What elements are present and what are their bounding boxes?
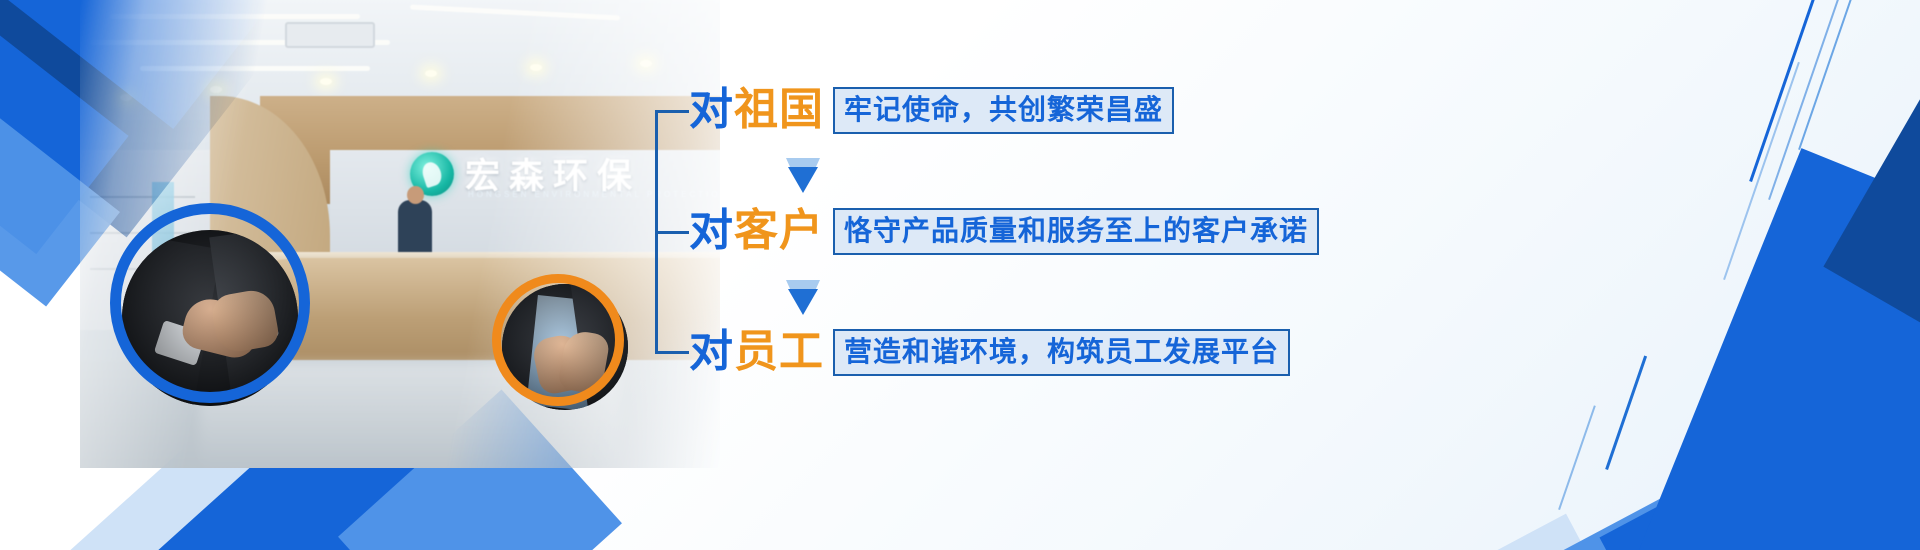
value-row-3-target: 员工 bbox=[734, 326, 824, 377]
decor-diagonal-line-5 bbox=[1605, 356, 1647, 470]
arrow-2-cap bbox=[786, 280, 820, 289]
arrow-2-tip bbox=[788, 289, 818, 315]
value-row-3-statement: 营造和谐环境，构筑员工发展平台 bbox=[833, 329, 1290, 376]
value-row-2-label: 对客户 bbox=[689, 205, 824, 257]
value-row-customer: 对客户 恪守产品质量和服务至上的客户承诺 bbox=[689, 205, 1319, 257]
value-row-3-label: 对员工 bbox=[689, 326, 824, 378]
values-list: 对祖国 牢记使命，共创繁荣昌盛 对客户 恪守产品质量和服务至上的客户承诺 对员工… bbox=[655, 84, 1355, 372]
bracket-stub-3 bbox=[655, 351, 689, 354]
decor-diagonal-line-6 bbox=[1558, 405, 1596, 510]
value-row-2-prefix: 对 bbox=[689, 205, 734, 256]
value-row-2-target: 客户 bbox=[734, 205, 824, 256]
value-row-1-label: 对祖国 bbox=[689, 84, 824, 136]
value-row-3-prefix: 对 bbox=[689, 326, 734, 377]
value-row-1-statement: 牢记使命，共创繁荣昌盛 bbox=[833, 87, 1174, 134]
value-row-employee: 对员工 营造和谐环境，构筑员工发展平台 bbox=[689, 326, 1290, 378]
arrow-1-cap bbox=[786, 158, 820, 167]
bracket-stub-2 bbox=[655, 231, 689, 234]
value-row-2-statement: 恪守产品质量和服务至上的客户承诺 bbox=[833, 208, 1319, 255]
company-values-banner: 宏森环保 HONGSEN ENVIRONMENTAL PROTECTION bbox=[0, 0, 1920, 550]
bracket-stub-1 bbox=[655, 110, 689, 113]
handshake-photo-blue-ring bbox=[110, 203, 310, 403]
decor-diagonal-line-4 bbox=[1798, 0, 1904, 150]
value-row-country: 对祖国 牢记使命，共创繁荣昌盛 bbox=[689, 84, 1174, 136]
arrow-1-tip bbox=[788, 167, 818, 193]
value-row-1-target: 祖国 bbox=[734, 84, 824, 135]
hands-photo-orange-ring bbox=[492, 274, 624, 406]
value-row-1-prefix: 对 bbox=[689, 84, 734, 135]
